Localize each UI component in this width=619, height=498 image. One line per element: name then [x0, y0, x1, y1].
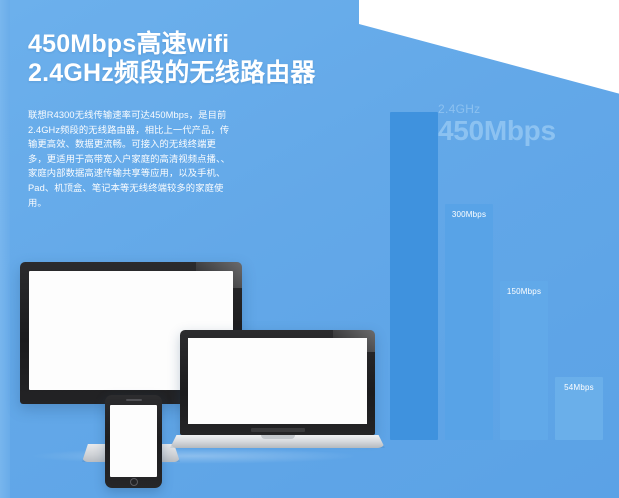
page-title: 450Mbps高速wifi 2.4GHz频段的无线路由器	[28, 30, 388, 88]
iphone-screen	[110, 405, 157, 477]
bar-450mbps	[390, 112, 438, 440]
iphone-bezel	[105, 395, 162, 488]
iphone-earpiece-icon	[126, 399, 142, 401]
title-line-2: 2.4GHz频段的无线路由器	[28, 59, 388, 88]
bar-label-54mbps: 54Mbps	[555, 383, 603, 392]
macbook-screen	[188, 338, 367, 424]
description-text: 联想R4300无线传输速率可达450Mbps，是目前2.4GHz频段的无线路由器…	[28, 108, 234, 210]
description-paragraph: 联想R4300无线传输速率可达450Mbps，是目前2.4GHz频段的无线路由器…	[28, 108, 234, 210]
title-line-1: 450Mbps高速wifi	[28, 30, 229, 58]
hero-speed-label: 2.4GHz 450Mbps	[438, 103, 618, 145]
iphone-device	[105, 395, 162, 488]
hero-band-label: 2.4GHz	[438, 103, 618, 115]
bar-54mbps: 54Mbps	[555, 377, 603, 440]
macbook-trackpad-notch	[261, 435, 295, 439]
macbook-bezel	[180, 330, 375, 435]
hero-speed-value: 450Mbps	[438, 117, 618, 145]
device-group	[0, 250, 395, 480]
bar-label-150mbps: 150Mbps	[500, 287, 548, 296]
bar-label-300mbps: 300Mbps	[445, 210, 493, 219]
iphone-home-button	[130, 478, 138, 486]
macbook-laptop	[170, 330, 385, 435]
speed-bar-chart: 2.4GHz 450Mbps 300Mbps 150Mbps 54Mbps	[380, 95, 619, 445]
macbook-chin-logo	[251, 428, 305, 432]
bar-300mbps: 300Mbps	[445, 204, 493, 440]
promo-banner: 450Mbps高速wifi 2.4GHz频段的无线路由器 联想R4300无线传输…	[0, 0, 619, 498]
bar-150mbps: 150Mbps	[500, 281, 548, 440]
device-ground-shadow	[28, 448, 358, 464]
